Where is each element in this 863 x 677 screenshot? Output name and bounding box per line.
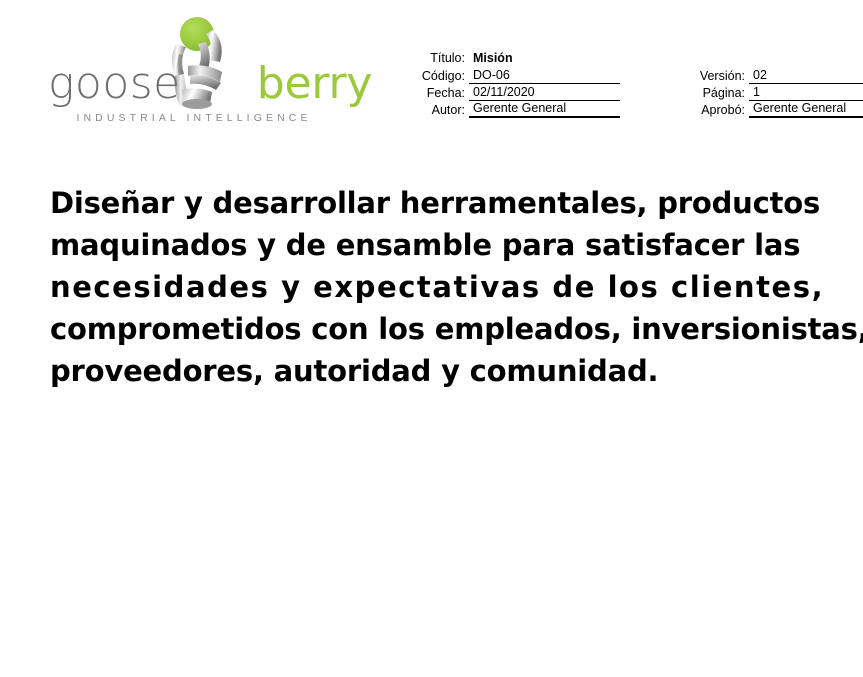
logo-wordmark: gooseberry (48, 61, 338, 107)
meta-label-pagina: Página: (684, 86, 749, 101)
meta-value-fecha: 02/11/2020 (469, 85, 620, 101)
table-row-fecha-pagina: Fecha: 02/11/2020 Página: 1 (406, 84, 794, 101)
mission-line: proveedores, autoridad y comunidad. (50, 350, 824, 392)
meta-label-codigo: Código: (406, 69, 469, 84)
mission-line: maquinados y de ensamble para satisfacer… (50, 224, 824, 266)
meta-cell-autor: Autor: Gerente General (406, 101, 620, 118)
meta-cell-fecha: Fecha: 02/11/2020 (406, 84, 620, 101)
meta-label-titulo: Título: (406, 50, 469, 67)
meta-label-aprobo: Aprobó: (684, 103, 749, 118)
mission-line: Diseñar y desarrollar herramentales, pro… (50, 182, 824, 224)
document-header-table: Título: Misión Código: DO-06 Versión: 02… (406, 48, 794, 118)
table-row-autor-aprobo: Autor: Gerente General Aprobó: Gerente G… (406, 101, 794, 118)
mission-statement: Diseñar y desarrollar herramentales, pro… (50, 182, 824, 392)
meta-cell-pagina: Página: 1 (684, 84, 863, 101)
meta-value-aprobo: Gerente General (749, 101, 863, 118)
document-page: { "logo": { "word_primary": "goose", "wo… (0, 0, 863, 677)
meta-cell-codigo: Código: DO-06 (406, 67, 620, 84)
meta-label-fecha: Fecha: (406, 86, 469, 101)
meta-label-version: Versión: (684, 69, 749, 84)
meta-cell-version: Versión: 02 (684, 67, 863, 84)
company-logo: gooseberry INDUSTRIAL INTELLIGENCE (48, 14, 338, 122)
meta-cell-aprobo: Aprobó: Gerente General (684, 101, 863, 118)
table-row-titulo: Título: Misión (406, 48, 794, 67)
meta-value-codigo: DO-06 (469, 68, 620, 84)
mission-line: comprometidos con los empleados, inversi… (50, 308, 824, 350)
meta-cell-titulo: Título: Misión (406, 50, 620, 67)
meta-value-version: 02 (749, 68, 863, 84)
logo-tagline: INDUSTRIAL INTELLIGENCE (68, 112, 320, 124)
meta-value-autor: Gerente General (469, 101, 620, 118)
mission-line: necesidades y expectativas de los client… (50, 266, 824, 308)
table-row-codigo-version: Código: DO-06 Versión: 02 (406, 67, 794, 84)
meta-value-titulo: Misión (469, 50, 620, 67)
meta-label-autor: Autor: (406, 103, 469, 118)
logo-word-goose: goose (48, 58, 181, 109)
logo-word-berry: berry (257, 58, 372, 109)
meta-value-pagina: 1 (749, 85, 863, 101)
